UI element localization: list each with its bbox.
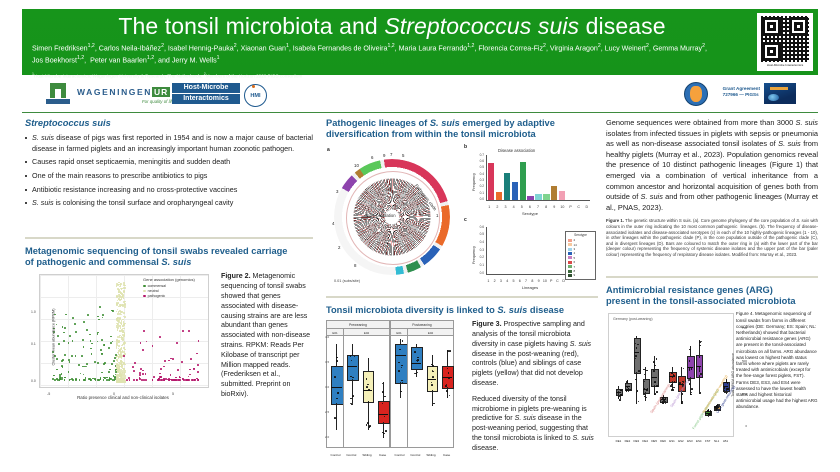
figure2-caption: Figure 2. Metagenomic sequencing of tons…: [221, 272, 313, 399]
figure4-whisker: [681, 367, 682, 376]
figure2-point: [116, 326, 118, 328]
figure4-point: [673, 389, 675, 391]
figure3-point: [432, 365, 434, 367]
figure4-point: [620, 390, 622, 392]
streptococcus-bullet-list: S. suis disease of pigs was first report…: [25, 133, 313, 208]
hmi-dot-icon: [252, 85, 255, 88]
figure3-median: [411, 363, 421, 364]
figure2-point: [160, 376, 162, 378]
figure1-panelc-bars: [488, 227, 565, 274]
legend-swatch: [568, 243, 572, 246]
figure4-caption: Figure 4. Metagenomic sequencing of tons…: [736, 311, 818, 410]
figure4-point: [643, 394, 645, 396]
ring-label-5: 5: [402, 153, 404, 158]
figure2-ytick-0: 0.0: [31, 379, 36, 383]
legend-swatch: [568, 265, 572, 268]
figure3-point: [336, 357, 338, 359]
figure4-point: [700, 392, 702, 394]
figure1-panelc-yticks: 0.6 0.5 0.4 0.3 0.2 0.1 0.0: [473, 225, 484, 275]
figure3-panel-pre-e02: [343, 335, 390, 448]
figure2-point: [65, 314, 67, 316]
figure4-point: [656, 385, 658, 387]
figure4-whisker: [618, 386, 619, 389]
figure2-point: [164, 360, 166, 362]
figure4-point: [724, 387, 726, 389]
figure4-point: [638, 370, 640, 372]
figure4-ytick: 0: [745, 424, 747, 428]
figure1-panelb-bar: [504, 173, 510, 200]
figure2-point: [120, 363, 122, 365]
logo-bar: WAGENINGENUR For quality of life Host-Mi…: [22, 80, 818, 112]
figure4-point: [646, 370, 648, 372]
figure1-panelc-xtick: 10: [543, 279, 548, 283]
figure1-panelc-xtick: 7: [524, 279, 529, 283]
figure1-panelb-xlabel: Serotype: [464, 211, 596, 216]
ring-label-6: 6: [371, 155, 373, 160]
figure2-point: [118, 345, 120, 347]
figure2-point: [153, 376, 155, 378]
figure1-panelc-xtick: 5: [511, 279, 516, 283]
hmi-line2: Interactomics: [172, 94, 240, 104]
figure1-legend-row: 2: [568, 238, 593, 242]
arg-title-line1: Antimicrobial resistance genes (ARG): [606, 285, 773, 295]
figure4-point: [689, 360, 691, 362]
figure3-point: [383, 437, 385, 439]
metagenomic-title-line1: Metagenomic sequencing of tonsil swabs r…: [25, 246, 287, 256]
section-divider: [326, 296, 598, 298]
section-title-tonsil-diversity: Tonsil microbiota diversity is linked to…: [326, 305, 598, 316]
figure3-median: [331, 387, 342, 388]
figure3-point: [384, 396, 386, 398]
figure3-caption-block: Figure 3. Prospective sampling and analy…: [472, 320, 598, 459]
figure1-panelb-xtick: 9: [551, 205, 558, 209]
figure1-panelc-xtick: 4: [505, 279, 510, 283]
figure2-point: [157, 379, 159, 381]
figure3-median: [395, 355, 406, 356]
affiliations: 1Host-Microbe Interactomics, Wageningen …: [32, 71, 712, 80]
figure3-whisker: [447, 350, 448, 366]
figure3-point: [334, 417, 336, 419]
legend-swatch-neutral: [143, 290, 146, 293]
figure2-point: [163, 379, 165, 381]
figure2-point: [123, 290, 125, 292]
figure4-point: [699, 367, 701, 369]
figure3-point: [385, 430, 387, 432]
legend-label: 5: [574, 256, 576, 260]
figure2-point: [168, 379, 170, 381]
list-item: Causes rapid onset septicaemia, meningit…: [25, 157, 313, 167]
figure3-point: [400, 391, 402, 393]
figure3-box: [331, 366, 344, 406]
figure2-point: [191, 379, 193, 381]
figure1-panelc-xtick: 1: [486, 279, 491, 283]
figure2-point: [177, 369, 179, 371]
figure4-point: [638, 401, 640, 403]
title-italic-species: Streptococcus suis: [384, 13, 579, 39]
figure1-panelb-xtick: P: [567, 205, 574, 209]
hmi-line1: Host-Microbe: [172, 83, 240, 93]
figure2-point: [69, 335, 71, 337]
figure2-point: [114, 357, 116, 359]
figure2-point: [115, 369, 117, 371]
figure2-point: [101, 339, 103, 341]
figure4-point: [699, 375, 701, 377]
figure2-point: [134, 362, 136, 364]
figure3-point: [366, 424, 368, 426]
figure3-point: [367, 384, 369, 386]
wageningen-wordmark: WAGENINGENUR: [77, 87, 170, 97]
figure2-point: [143, 379, 145, 381]
figure4-boxplot: Germany (post-weaning) Total RPKM ARG ab…: [608, 313, 734, 437]
figure2-point: [94, 361, 96, 363]
figure1-legend-row: 8: [568, 269, 593, 273]
figure4-point: [716, 405, 718, 407]
figure2-point: [197, 371, 199, 373]
figure3-point: [369, 425, 371, 427]
figure-3: Shannon diversity index Preweaning Postw…: [326, 320, 598, 462]
figure4-point: [699, 345, 701, 347]
figure2-point: [57, 335, 59, 337]
section-title-streptococcus-suis: Streptococcus suis: [25, 118, 313, 129]
figure3-xtick: Control: [408, 453, 423, 457]
figure1-panelb-xtick: 8: [543, 205, 550, 209]
wur-name: WAGENINGEN: [77, 87, 152, 97]
legend-label-pathogenic: pathogenic: [148, 294, 166, 298]
figure3-boxplot-area: Shannon diversity index Preweaning Postw…: [326, 320, 466, 458]
ring-label-9: 9: [383, 153, 385, 158]
figure2-point: [176, 342, 178, 344]
list-item: S. suis disease of pigs was first report…: [25, 133, 313, 153]
figure1-core-population-label: Core population: [366, 213, 396, 218]
author-list: Simen Fredriksen1,2, Carlos Neila-Ibáñez…: [32, 42, 712, 66]
figure2-point: [87, 314, 89, 316]
figure3-xtick: Control: [344, 453, 359, 457]
figure4-point: [646, 390, 648, 392]
poster-root: The tonsil microbiota and Streptococcus …: [0, 0, 840, 472]
figure3-whisker: [368, 358, 369, 371]
figure2-legend: Gene association (genomics) commensal ne…: [143, 277, 205, 299]
figure2-point: [133, 370, 135, 372]
figure2-caption-block: Figure 2. Metagenomic sequencing of tons…: [221, 272, 313, 399]
ring-label-2: 2: [338, 245, 340, 250]
figure2-point: [123, 312, 125, 314]
figure2-point: [117, 369, 119, 371]
figure3-median: [363, 390, 373, 391]
wur-ur: UR: [152, 87, 170, 97]
figure2-point: [121, 288, 123, 290]
figure1-panelb-yticks: 0.7 0.6 0.5 0.4 0.3 0.2 0.1 0.0: [473, 153, 484, 201]
figure1-panelb-xtick: 2: [494, 205, 501, 209]
figure2-point: [120, 377, 122, 379]
ring-label-7: 7: [390, 152, 392, 157]
figure4-median: [651, 377, 656, 378]
figure1-legend-row: 4: [568, 251, 593, 255]
pigss-logo-icon: [764, 83, 796, 104]
figure3-point: [352, 395, 354, 397]
figure3-point: [433, 403, 435, 405]
qr-code-block[interactable]: Host-Microbe Interactomics: [757, 13, 813, 71]
figure2-point: [159, 336, 161, 338]
figure4-point: [626, 389, 628, 391]
legend-label-neutral: neutral: [148, 289, 159, 293]
legend-label: 9: [574, 273, 576, 277]
figure4-point: [644, 388, 646, 390]
figure-4: Germany (post-weaning) Total RPKM ARG ab…: [606, 311, 818, 453]
arg-title-line2: present in the tonsil-associated microbi…: [606, 296, 796, 306]
figure4-point: [689, 383, 691, 385]
figure4-xtick: LB1: [720, 439, 732, 443]
wageningen-logo-icon: [46, 83, 70, 107]
figure2-point: [118, 365, 120, 367]
figure2-point: [90, 379, 92, 381]
wur-tagline: For quality of life: [142, 99, 174, 104]
figure1-panelc-xtick: C: [555, 279, 560, 283]
figure1-panelb-bar: [488, 163, 494, 200]
list-item: Antibiotic resistance increasing and no …: [25, 185, 313, 195]
figure2-ytick-2: 1.0: [31, 310, 36, 314]
figure1-panelb-plotarea: [486, 155, 590, 201]
figure3-point: [402, 340, 404, 342]
figure3-point: [366, 386, 368, 388]
figure1-panelb-xtick: 4: [510, 205, 517, 209]
figure4-point: [620, 394, 622, 396]
figure4-point: [683, 368, 685, 370]
legend-label: 7: [574, 265, 576, 269]
figure2-point: [182, 330, 184, 332]
section-divider: [606, 276, 818, 278]
figure3-point: [336, 398, 338, 400]
figure2-point: [132, 366, 134, 368]
figure2-point: [123, 347, 125, 349]
figure4-point: [701, 341, 703, 343]
qr-code-icon[interactable]: [761, 16, 809, 62]
figure1-legend-row: 14: [568, 243, 593, 247]
figure2-point: [123, 287, 125, 289]
figure2-point: [181, 361, 183, 363]
section-divider: [25, 237, 313, 239]
figure3-point: [351, 403, 353, 405]
figure1-legend-row: 7: [568, 265, 593, 269]
figure4-caption-block: Figure 4. Metagenomic sequencing of tons…: [736, 311, 818, 410]
figure4-point: [656, 358, 658, 360]
legend-swatch: [568, 261, 572, 264]
figure2-point: [58, 343, 60, 345]
figure1-legend-row: 5: [568, 256, 593, 260]
figure2-point: [123, 362, 125, 364]
column-left: Streptococcus suis S. suis disease of pi…: [25, 118, 313, 402]
figure3-point: [382, 391, 384, 393]
figure2-point: [142, 373, 144, 375]
column-middle: Pathogenic lineages of S. suis emerged b…: [326, 118, 598, 462]
figure4-point: [691, 388, 693, 390]
figure2-ytick-1: 0.1: [31, 342, 36, 346]
figure3-whisker: [352, 379, 353, 403]
figure2-point: [124, 306, 126, 308]
figure4-point: [620, 397, 622, 399]
figure2-point: [185, 379, 187, 381]
figure3-point: [432, 405, 434, 407]
figure2-point: [83, 321, 85, 323]
figure4-point: [724, 392, 726, 394]
figure2-point: [197, 364, 199, 366]
legend-label: 6: [574, 260, 576, 264]
figure1-legend-row: 9: [568, 273, 593, 277]
ring-label-1: 1: [436, 213, 438, 218]
page-title: The tonsil microbiota and Streptococcus …: [62, 13, 722, 39]
legend-swatch: [568, 270, 572, 273]
figure2-legend-title: Gene association (genomics): [143, 277, 205, 282]
figure2-point: [179, 377, 181, 379]
figure1-panelb-xtick: 10: [559, 205, 566, 209]
figure3-xtick: Sibling: [424, 453, 439, 457]
figure4-point: [689, 349, 691, 351]
figure2-point: [119, 318, 121, 320]
list-item: S. suis is colonising the tonsil surface…: [25, 198, 313, 208]
figure1-panelb-bars: [488, 155, 589, 200]
figure3-point: [337, 392, 339, 394]
legend-swatch-pathogenic: [143, 295, 146, 298]
figure1-panelc-plotarea: [486, 227, 566, 275]
figure2-point: [108, 379, 110, 381]
figure-2: Gene association (genomics) commensal ne…: [25, 272, 313, 402]
title-part-2: disease: [579, 13, 665, 39]
figure3-xtick: Case: [439, 453, 454, 457]
figure2-point: [117, 288, 119, 290]
figure3-caption: Figure 3. Prospective sampling and analy…: [472, 320, 598, 453]
figure2-point: [110, 342, 112, 344]
figure3-panel-post-e01: [390, 335, 408, 448]
figure1-panelc-xlabel: Lineages: [464, 285, 596, 290]
ring-label-8: 8: [354, 263, 356, 268]
figure2-point: [124, 303, 126, 305]
figure3-point: [398, 370, 400, 372]
figure2-point: [113, 360, 115, 362]
figure2-point: [145, 373, 147, 375]
figure2-point: [124, 375, 126, 377]
figure2-point: [97, 362, 99, 364]
figure3-ytick: 3.0: [325, 385, 329, 389]
header-divider: [22, 112, 818, 113]
figure2-point: [116, 319, 118, 321]
figure3-median: [378, 414, 388, 415]
figure4-whisker: [636, 372, 637, 403]
figure3-point: [334, 376, 336, 378]
legend-label: 2: [574, 238, 576, 242]
figure4-point: [690, 394, 692, 396]
ring-label-3: 3: [336, 189, 338, 194]
figure2-point: [124, 285, 126, 287]
figure3-point: [350, 398, 352, 400]
figure1-panelb-bar: [559, 191, 565, 199]
figure3-point: [399, 349, 401, 351]
ring-label-4: 4: [332, 221, 334, 226]
figure3-point: [445, 385, 447, 387]
figure3-box: [378, 401, 390, 425]
figure2-point: [83, 379, 85, 381]
figure2-point: [124, 316, 126, 318]
figure1-panelb-xtick: 1: [486, 205, 493, 209]
figure1-panelb-bar: [520, 162, 526, 200]
figure2-point: [62, 359, 64, 361]
figure2-point: [122, 334, 124, 336]
figure3-whisker: [447, 387, 448, 398]
figure2-point: [115, 371, 117, 373]
figure2-point: [82, 339, 84, 341]
figure1-caption: Figure 1. The genetic structure within S…: [606, 218, 818, 257]
figure2-point: [71, 355, 73, 357]
figure4-point: [653, 361, 655, 363]
figure1-panelc-xtick: 3: [499, 279, 504, 283]
figure3-ytick: 2.5: [325, 410, 329, 414]
section-title-arg: Antimicrobial resistance genes (ARG) pre…: [606, 285, 818, 308]
figure3-ytick: 3.5: [325, 360, 329, 364]
figure3-point: [448, 378, 450, 380]
figure2-point: [115, 354, 117, 356]
figure2-point: [63, 340, 65, 342]
figure4-group-title-germany: Germany (post-weaning): [613, 317, 653, 321]
figure3-whisker: [400, 339, 401, 344]
figure4-point: [654, 393, 656, 395]
figure3-point: [352, 377, 354, 379]
section-title-metagenomic-sequencing: Metagenomic sequencing of tonsil swabs r…: [25, 246, 313, 269]
figure3-whisker: [352, 344, 353, 355]
legend-label-commensal: commensal: [148, 284, 166, 288]
figure3-whisker: [336, 344, 337, 366]
figure2-y-axis-label: Cluster mean abundance (RPKM): [51, 309, 55, 366]
figure3-xtick: Sibling: [360, 453, 375, 457]
figure3-point: [432, 371, 434, 373]
figure2-point: [108, 371, 110, 373]
hmi-abbrev-badge: HMI: [244, 84, 267, 107]
figure2-point: [103, 363, 105, 365]
figure4-point: [637, 390, 639, 392]
figure1-panelc-xtick: 2: [492, 279, 497, 283]
figure2-point: [182, 378, 184, 380]
figure4-point: [674, 381, 676, 383]
figure2-point: [100, 349, 102, 351]
figure4-whisker: [699, 376, 700, 394]
figure2-point: [59, 374, 61, 376]
figure2-point: [64, 327, 66, 329]
hmi-logo: Host-Microbe Interactomics HMI: [172, 82, 240, 106]
figure4-whisker: [672, 367, 673, 371]
qr-caption: Host-Microbe Interactomics: [767, 63, 804, 67]
figure4-point: [671, 372, 673, 374]
figure3-point: [368, 389, 370, 391]
figure2-point: [78, 364, 80, 366]
figure2-point: [143, 330, 145, 332]
ring-label-10: 10: [354, 163, 359, 168]
figure2-x-axis-label: Ratio presence clinical and non-clinical…: [39, 395, 207, 400]
figure4-point: [656, 391, 658, 393]
figure1-panelc-xtick: 9: [536, 279, 541, 283]
figure2-point: [72, 379, 74, 381]
figure2-point: [139, 374, 141, 376]
figure1-panel-c-chart: Frequency 0.6 0.5 0.4 0.3 0.2 0.1 0.0 12…: [464, 221, 596, 289]
figure3-point: [449, 350, 451, 352]
figure2-point: [59, 376, 61, 378]
figure1-legend-title: Serotype: [567, 233, 594, 237]
figure3-point: [398, 362, 400, 364]
grant-line1: Grant Agreement: [723, 86, 760, 91]
figure3-panel-post-e02: [407, 335, 454, 448]
figure1-legend-row: 3: [568, 247, 593, 251]
figure2-point: [118, 341, 120, 343]
figure-1: a Core population 7 9 5 6 10 3 4 2 8 1 P…: [326, 145, 598, 290]
legend-label: 4: [574, 251, 576, 255]
figure4-point: [653, 370, 655, 372]
figure3-median: [427, 379, 437, 380]
